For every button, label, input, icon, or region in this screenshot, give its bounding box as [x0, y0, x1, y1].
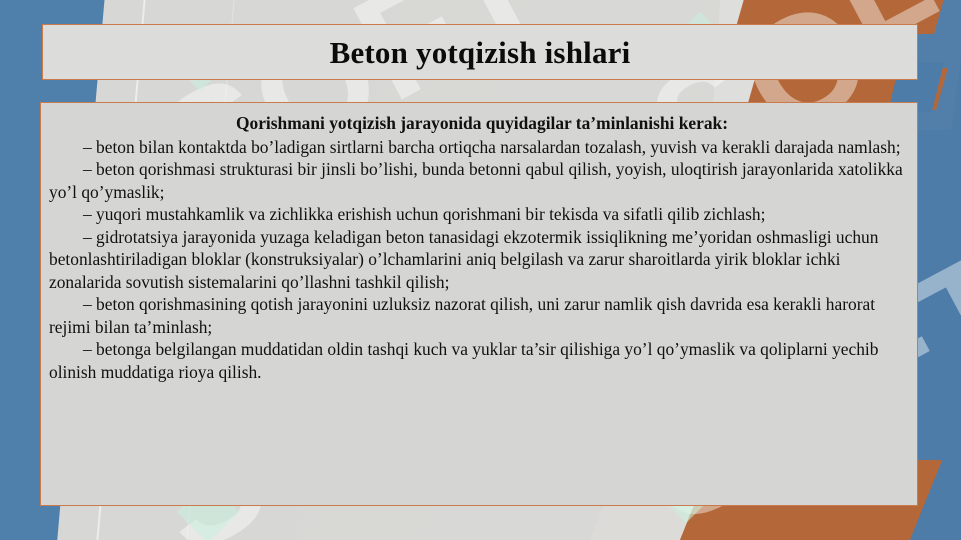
content-body: Qorishmani yotqizish jarayonida quyidagi…: [49, 112, 909, 383]
slide-title-card: Beton yotqizish ishlari: [42, 24, 918, 80]
page-title: Beton yotqizish ishlari: [330, 37, 631, 68]
slide-content-card: Qorishmani yotqizish jarayonida quyidagi…: [40, 102, 918, 506]
bullet-item: – beton qorishmasining qotish jarayonini…: [49, 293, 909, 338]
bullet-item: – betonga belgilangan muddatidan oldin t…: [49, 338, 909, 383]
content-heading: Qorishmani yotqizish jarayonida quyidagi…: [49, 112, 909, 135]
presentation-slide: SOFT SOFT SOFT SOFT Beton yotqizish ishl…: [0, 0, 961, 540]
bullet-item: – yuqori mustahkamlik va zichlikka erish…: [49, 203, 909, 226]
bullet-item: – beton bilan kontaktda bo’ladigan sirtl…: [49, 136, 909, 159]
bullet-item: – gidrotatsiya jarayonida yuzaga keladig…: [49, 226, 909, 294]
bullet-item: – beton qorishmasi strukturasi bir jinsl…: [49, 158, 909, 203]
